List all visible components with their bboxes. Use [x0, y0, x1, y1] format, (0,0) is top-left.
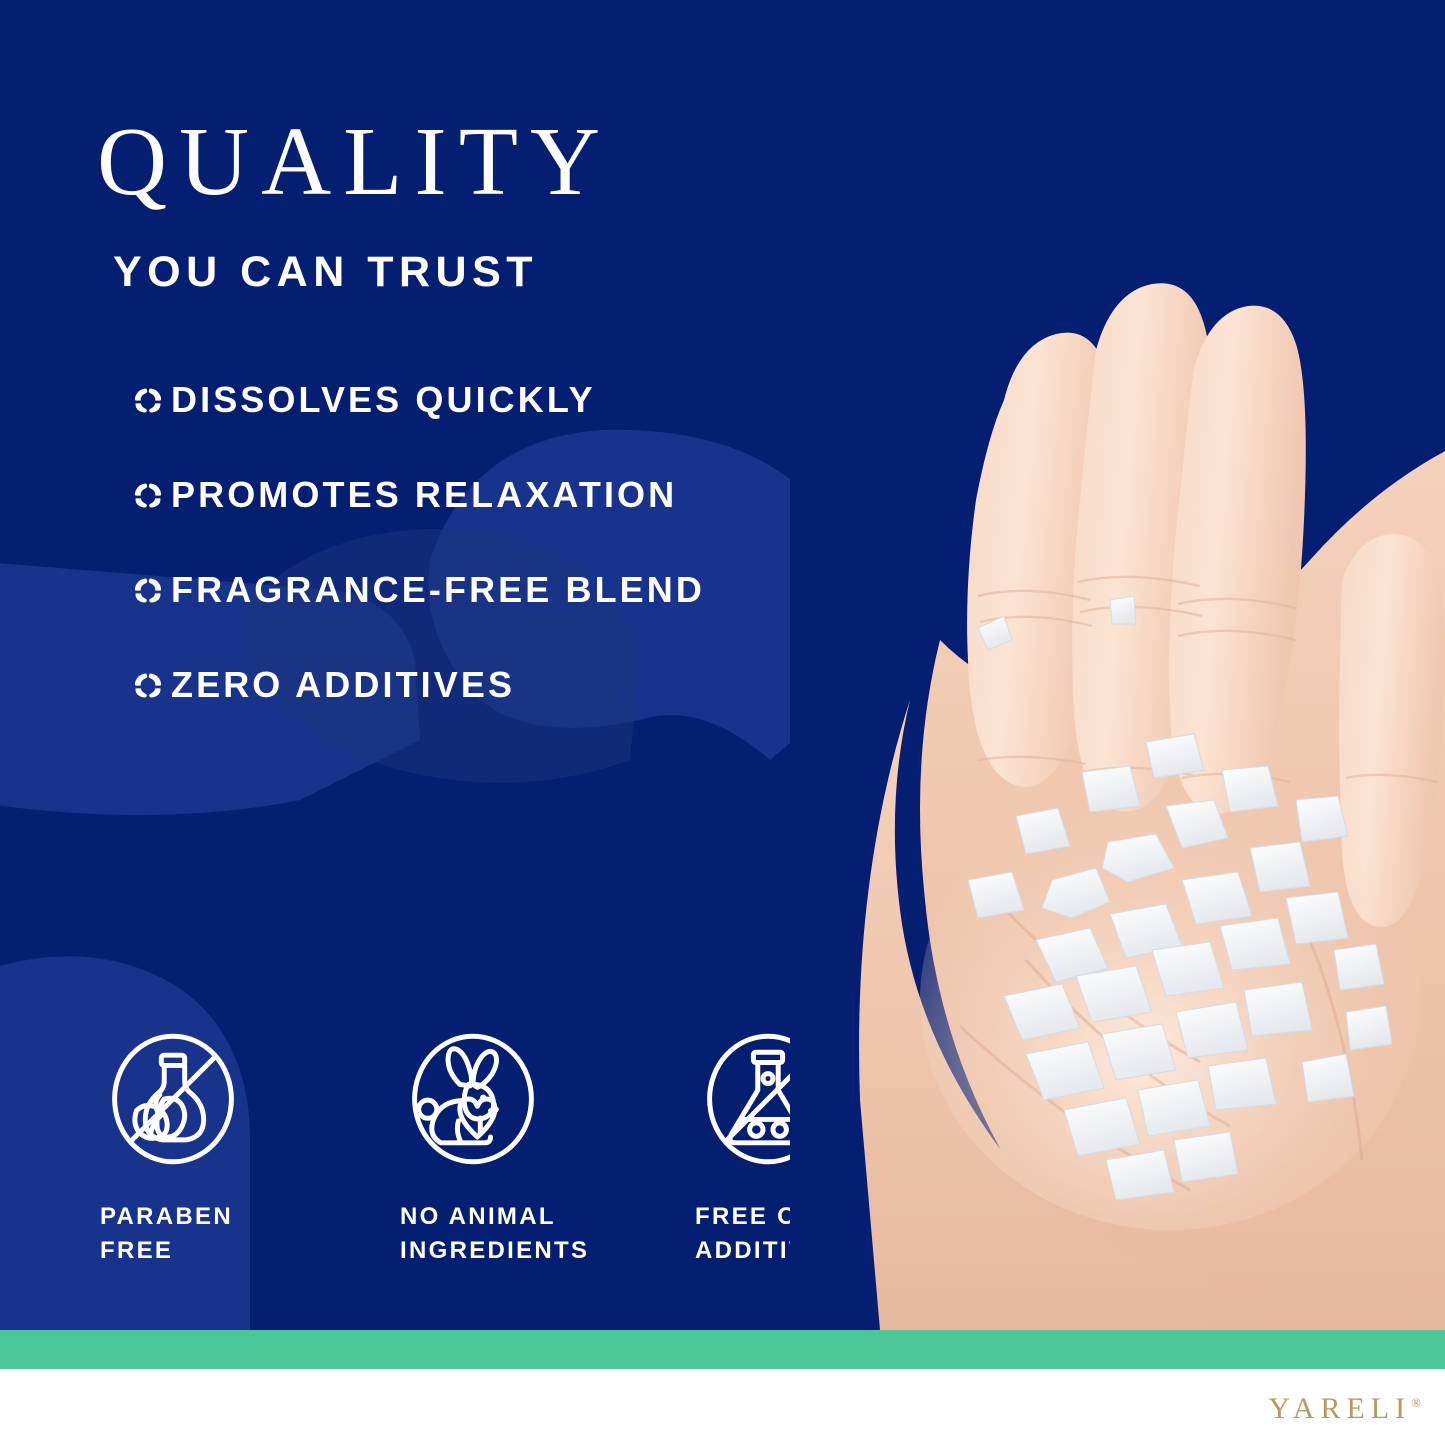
- hand-holding-magnesium-flakes-photo: [790, 0, 1445, 1330]
- list-item: PROMOTES RELAXATION: [131, 447, 851, 542]
- footer-bar: [0, 1369, 1445, 1445]
- no-paraben-bottle-icon: [100, 1026, 246, 1172]
- page-subtitle: YOU CAN TRUST: [113, 248, 538, 297]
- brand-name: YARELI: [1268, 1392, 1411, 1425]
- badge-paraben-free: PARABEN FREE: [86, 1026, 386, 1268]
- list-item-label: DISSOLVES QUICKLY: [171, 382, 596, 418]
- hero-panel: QUALITY YOU CAN TRUST DISSOLVES QUICKLY: [0, 0, 1445, 1330]
- list-item-label: ZERO ADDITIVES: [171, 667, 515, 703]
- green-accent-bar: [0, 1330, 1445, 1369]
- double-leaf-bullet-icon: [131, 668, 165, 702]
- badge-label-line1: NO ANIMAL: [400, 1203, 556, 1230]
- list-item-label: FRAGRANCE-FREE BLEND: [171, 572, 705, 608]
- badge-label-line2: FREE: [100, 1237, 173, 1264]
- badge-label-line2: INGREDIENTS: [400, 1237, 589, 1264]
- double-leaf-bullet-icon: [131, 383, 165, 417]
- badge-label: PARABEN FREE: [100, 1200, 233, 1268]
- list-item: FRAGRANCE-FREE BLEND: [131, 542, 851, 637]
- product-marketing-image: QUALITY YOU CAN TRUST DISSOLVES QUICKLY: [0, 0, 1445, 1445]
- badge-label: NO ANIMAL INGREDIENTS: [400, 1200, 589, 1268]
- list-item: ZERO ADDITIVES: [131, 637, 851, 732]
- trademark-symbol: ®: [1411, 1395, 1421, 1410]
- rabbit-heart-icon: [400, 1026, 546, 1172]
- double-leaf-bullet-icon: [131, 478, 165, 512]
- page-title: QUALITY: [97, 113, 612, 212]
- badge-no-animal-ingredients: NO ANIMAL INGREDIENTS: [386, 1026, 681, 1268]
- double-leaf-bullet-icon: [131, 573, 165, 607]
- badge-label-line1: PARABEN: [100, 1203, 233, 1230]
- content-column: QUALITY YOU CAN TRUST DISSOLVES QUICKLY: [0, 0, 860, 1330]
- certification-badges: PARABEN FREE: [86, 1026, 886, 1268]
- list-item-label: PROMOTES RELAXATION: [171, 477, 677, 513]
- feature-list: DISSOLVES QUICKLY PROMOTES RELAXATION: [131, 352, 851, 732]
- brand-logo: YARELI®: [1268, 1392, 1421, 1426]
- list-item: DISSOLVES QUICKLY: [131, 352, 851, 447]
